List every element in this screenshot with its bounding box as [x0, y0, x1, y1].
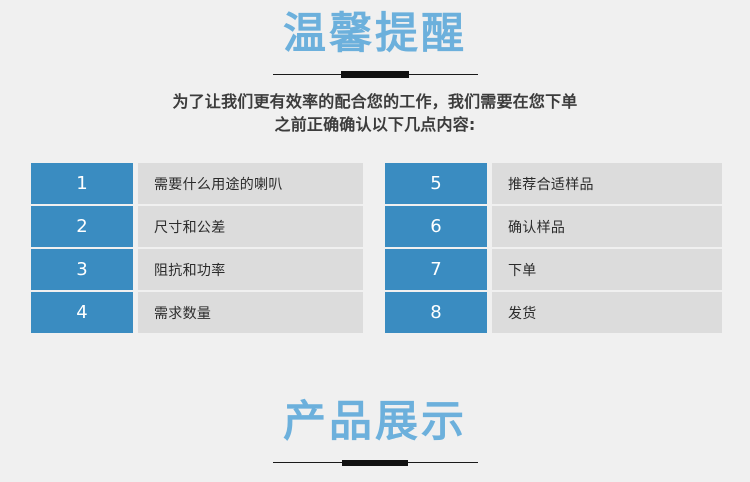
checklist-row: 5 推荐合适样品: [385, 163, 722, 204]
heading-divider-top: [273, 71, 478, 79]
checklist-row-label: 确认样品: [492, 206, 722, 247]
divider-center-bar: [342, 460, 408, 466]
divider-center-bar: [341, 71, 409, 78]
checklist-row-label: 发货: [492, 292, 722, 333]
checklist-row-number: 1: [31, 163, 133, 204]
section-heading-reminder-text: 温馨提醒: [0, 12, 750, 57]
promo-page: 温馨提醒 为了让我们更有效率的配合您的工作，我们需要在您下单 之前正确确认以下几…: [0, 0, 750, 482]
section-heading-products: 产品展示: [0, 400, 750, 467]
reminder-subtitle-line-1: 为了让我们更有效率的配合您的工作，我们需要在您下单: [75, 90, 675, 113]
checklist-row-number: 4: [31, 292, 133, 333]
reminder-subtitle-line-2: 之前正确确认以下几点内容:: [75, 113, 675, 136]
checklist-row: 2 尺寸和公差: [31, 206, 363, 247]
checklist-row: 7 下单: [385, 249, 722, 290]
checklist-right: 5 推荐合适样品 6 确认样品 7 下单 8 发货: [385, 163, 722, 335]
checklist-row-label: 需要什么用途的喇叭: [138, 163, 363, 204]
heading-divider-bottom: [273, 459, 478, 467]
checklist-row: 4 需求数量: [31, 292, 363, 333]
checklist-row: 3 阻抗和功率: [31, 249, 363, 290]
section-heading-products-text: 产品展示: [0, 400, 750, 445]
checklist-row-label: 阻抗和功率: [138, 249, 363, 290]
checklist-row-number: 7: [385, 249, 487, 290]
checklist-row: 6 确认样品: [385, 206, 722, 247]
checklist-row-number: 3: [31, 249, 133, 290]
checklist-left: 1 需要什么用途的喇叭 2 尺寸和公差 3 阻抗和功率 4 需求数量: [31, 163, 363, 335]
checklist-row-number: 2: [31, 206, 133, 247]
checklist-row-number: 6: [385, 206, 487, 247]
checklist-row-label: 需求数量: [138, 292, 363, 333]
checklist-row-label: 推荐合适样品: [492, 163, 722, 204]
checklist-row-number: 8: [385, 292, 487, 333]
checklist-row-label: 尺寸和公差: [138, 206, 363, 247]
checklist-row-number: 5: [385, 163, 487, 204]
checklist-row: 1 需要什么用途的喇叭: [31, 163, 363, 204]
checklist-row: 8 发货: [385, 292, 722, 333]
reminder-subtitle: 为了让我们更有效率的配合您的工作，我们需要在您下单 之前正确确认以下几点内容:: [75, 90, 675, 136]
checklist-row-label: 下单: [492, 249, 722, 290]
section-heading-reminder: 温馨提醒: [0, 12, 750, 79]
